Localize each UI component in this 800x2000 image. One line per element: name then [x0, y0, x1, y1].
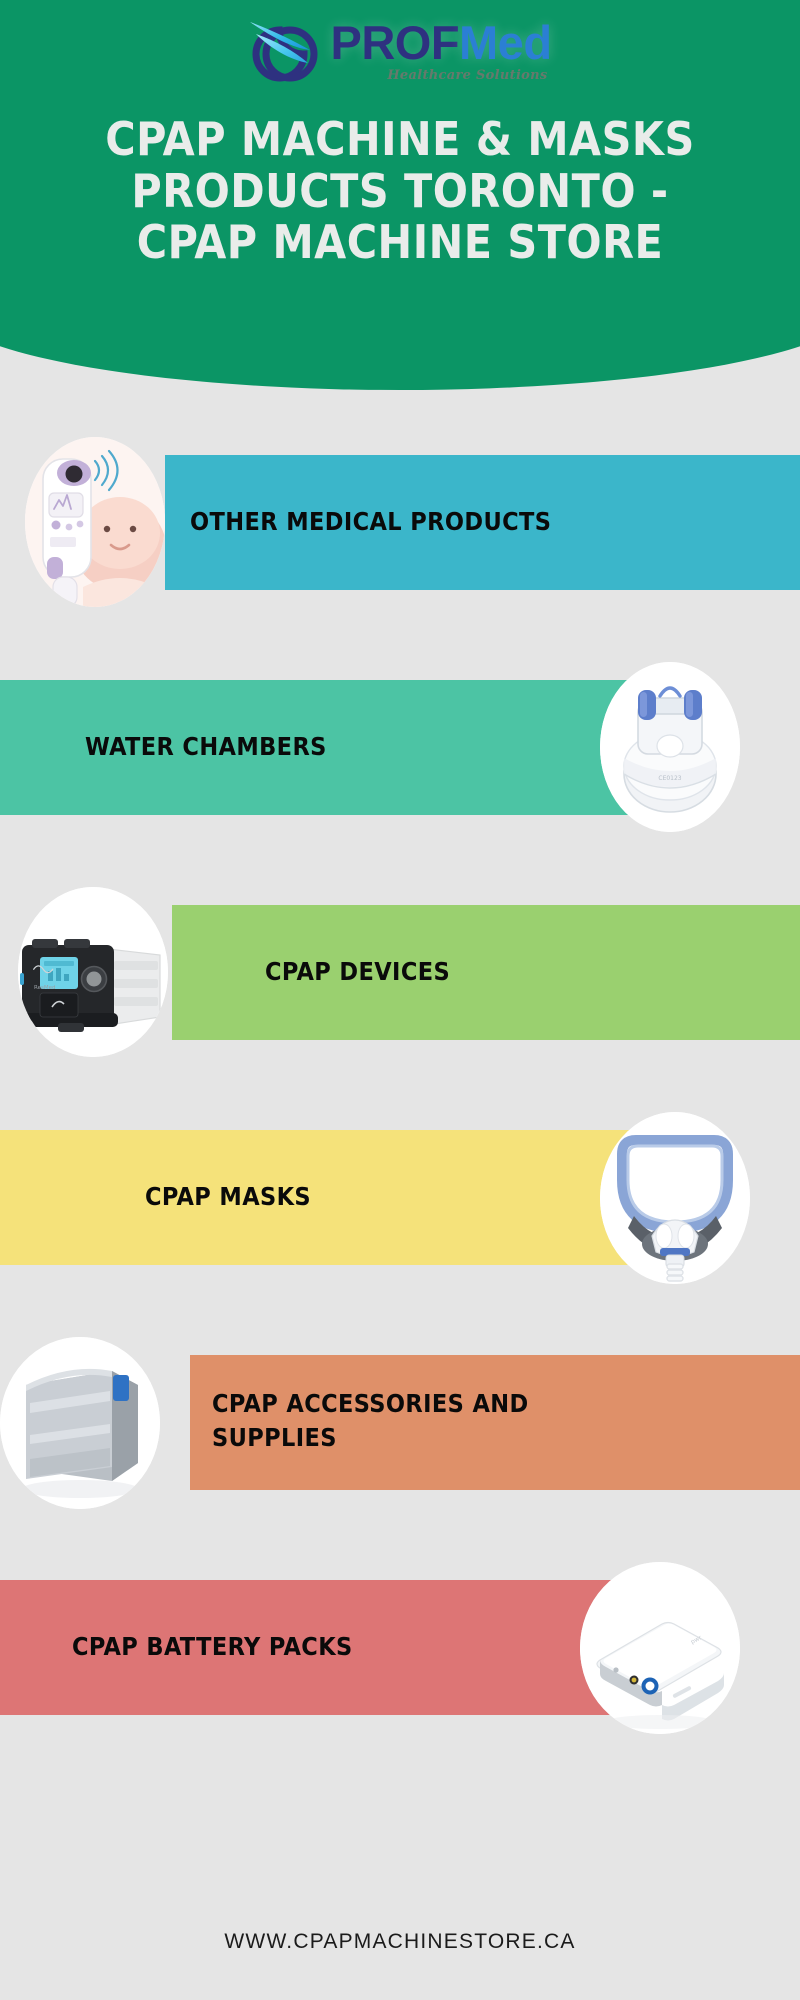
category-list: OTHER MEDICAL PRODUCTS CE0123 WA — [0, 0, 800, 2000]
cpap-device-icon: ResMed — [18, 887, 168, 1057]
category-thumbnail: CE0123 — [600, 662, 740, 832]
category-label: CPAP MASKS — [145, 1180, 311, 1214]
category-label: OTHER MEDICAL PRODUCTS — [190, 505, 551, 539]
category-row-cpap-devices[interactable]: ResMed CPAP DEVICES — [0, 905, 800, 1040]
category-bar — [0, 1130, 645, 1265]
category-row-cpap-battery-packs[interactable]: pwr CPAP BATTERY PACKS — [0, 1580, 800, 1715]
travel-bag-icon — [0, 1337, 160, 1509]
category-row-cpap-masks[interactable]: CPAP MASKS — [0, 1130, 800, 1265]
svg-text:ResMed: ResMed — [34, 985, 55, 991]
category-thumbnail — [600, 1112, 750, 1284]
category-label: CPAP DEVICES — [265, 955, 450, 989]
category-row-cpap-accessories[interactable]: CPAP ACCESSORIES AND SUPPLIES — [0, 1355, 800, 1490]
category-thumbnail: pwr — [580, 1562, 740, 1734]
category-thumbnail — [25, 437, 165, 607]
category-thumbnail: ResMed — [18, 887, 168, 1057]
category-thumbnail — [0, 1337, 160, 1509]
footer-url[interactable]: WWW.CPAPMACHINESTORE.CA — [0, 1930, 800, 1954]
cpap-mask-icon — [600, 1112, 750, 1284]
category-label: CPAP ACCESSORIES AND SUPPLIES — [212, 1387, 612, 1455]
water-chamber-icon: CE0123 — [600, 662, 740, 832]
battery-pack-icon: pwr — [580, 1562, 740, 1734]
category-row-other-medical-products[interactable]: OTHER MEDICAL PRODUCTS — [0, 455, 800, 590]
baby-thermometer-icon — [25, 437, 165, 607]
category-label: CPAP BATTERY PACKS — [72, 1630, 353, 1664]
svg-text:CE0123: CE0123 — [658, 775, 681, 782]
category-label: WATER CHAMBERS — [85, 730, 327, 764]
category-row-water-chambers[interactable]: CE0123 WATER CHAMBERS — [0, 680, 800, 815]
